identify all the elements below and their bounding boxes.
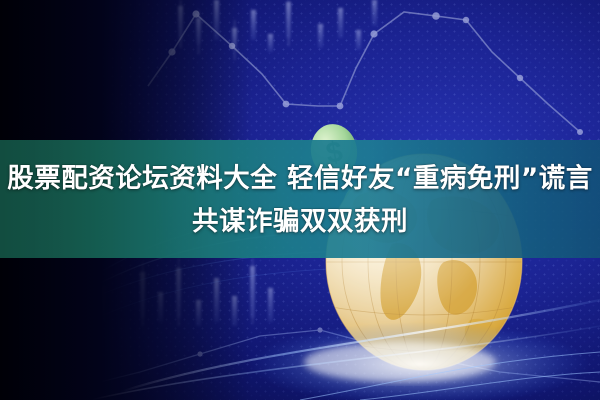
headline-line-2: 共谋诈骗双双获刑 [0,205,600,239]
news-banner-image: $ $ [0,0,600,400]
headline-line-1: 股票配资论坛资料大全 轻信好友“重病免刑”谎言 [0,162,600,196]
headline-banner-band [0,140,600,258]
band-gradient-overlay [0,140,600,258]
